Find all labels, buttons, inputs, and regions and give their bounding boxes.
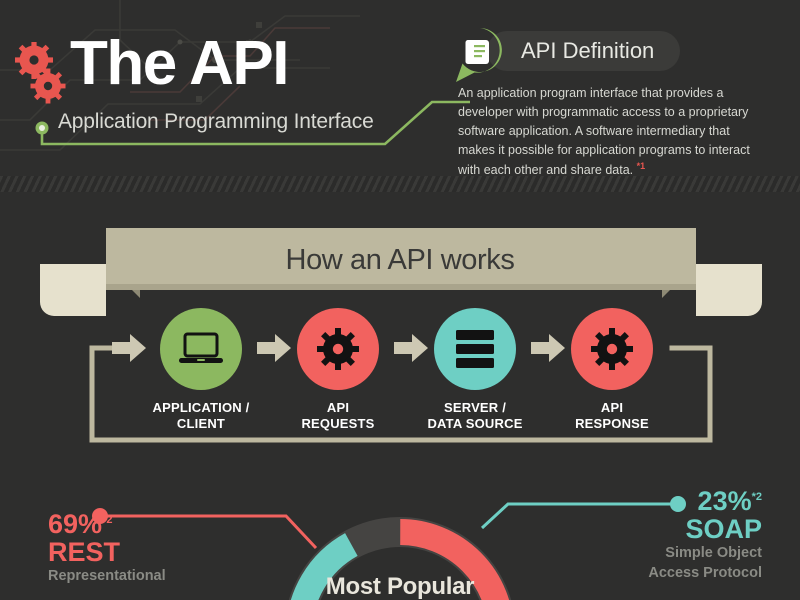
- flow-label-line1: APPLICATION /: [153, 400, 250, 415]
- definition-title: API Definition: [521, 38, 654, 64]
- stat-rest-footnote: *2: [102, 514, 112, 526]
- gear-icon: [571, 308, 653, 390]
- flow-label-line1: API: [327, 400, 349, 415]
- flow-label-line2: DATA SOURCE: [427, 416, 522, 431]
- stat-rest-desc: Representational: [48, 568, 166, 585]
- stat-soap-desc-line2: Access Protocol: [648, 565, 762, 582]
- flow-node-server-data-source[interactable]: [434, 308, 516, 390]
- definition-footnote: *1: [637, 161, 646, 171]
- flow-node-api-requests[interactable]: [297, 308, 379, 390]
- laptop-icon: [160, 308, 242, 390]
- stat-rest-percent: 69%*2: [48, 511, 166, 538]
- flow-label-api-response: API RESPONSE: [527, 400, 697, 433]
- flow-node-application-client[interactable]: [160, 308, 242, 390]
- gears-icon: [14, 42, 70, 104]
- green-connector-line: [0, 100, 470, 170]
- section-divider: [0, 176, 800, 192]
- server-icon: [434, 308, 516, 390]
- stat-soap-footnote: *2: [752, 491, 762, 503]
- definition-badge: API Definition: [487, 31, 680, 71]
- stat-soap-desc-line1: Simple Object: [648, 545, 762, 562]
- infographic-canvas: The API Application Programming Interfac…: [0, 0, 800, 600]
- definition-text: An application program interface that pr…: [458, 86, 750, 177]
- stat-soap: 23%*2 SOAP Simple Object Access Protocol: [648, 488, 762, 582]
- flow-label-line2: RESPONSE: [575, 416, 649, 431]
- stat-soap-percent: 23%*2: [648, 488, 762, 515]
- flow-node-api-response[interactable]: [571, 308, 653, 390]
- stat-soap-name: SOAP: [648, 515, 762, 543]
- donut-center-label: Most Popular: [283, 573, 517, 600]
- flow-label-line2: CLIENT: [177, 416, 225, 431]
- flow-diagram: [0, 300, 800, 460]
- flow-label-line1: API: [601, 400, 623, 415]
- stat-rest: 69%*2 REST Representational: [48, 511, 166, 586]
- ribbon-title: How an API works: [0, 244, 800, 277]
- gear-icon: [297, 308, 379, 390]
- definition-body: An application program interface that pr…: [458, 84, 754, 180]
- flow-label-line1: SERVER /: [444, 400, 506, 415]
- book-icon: [454, 26, 506, 86]
- page-title: The API: [70, 33, 288, 95]
- stat-rest-name: REST: [48, 538, 166, 566]
- flow-label-line2: REQUESTS: [301, 416, 374, 431]
